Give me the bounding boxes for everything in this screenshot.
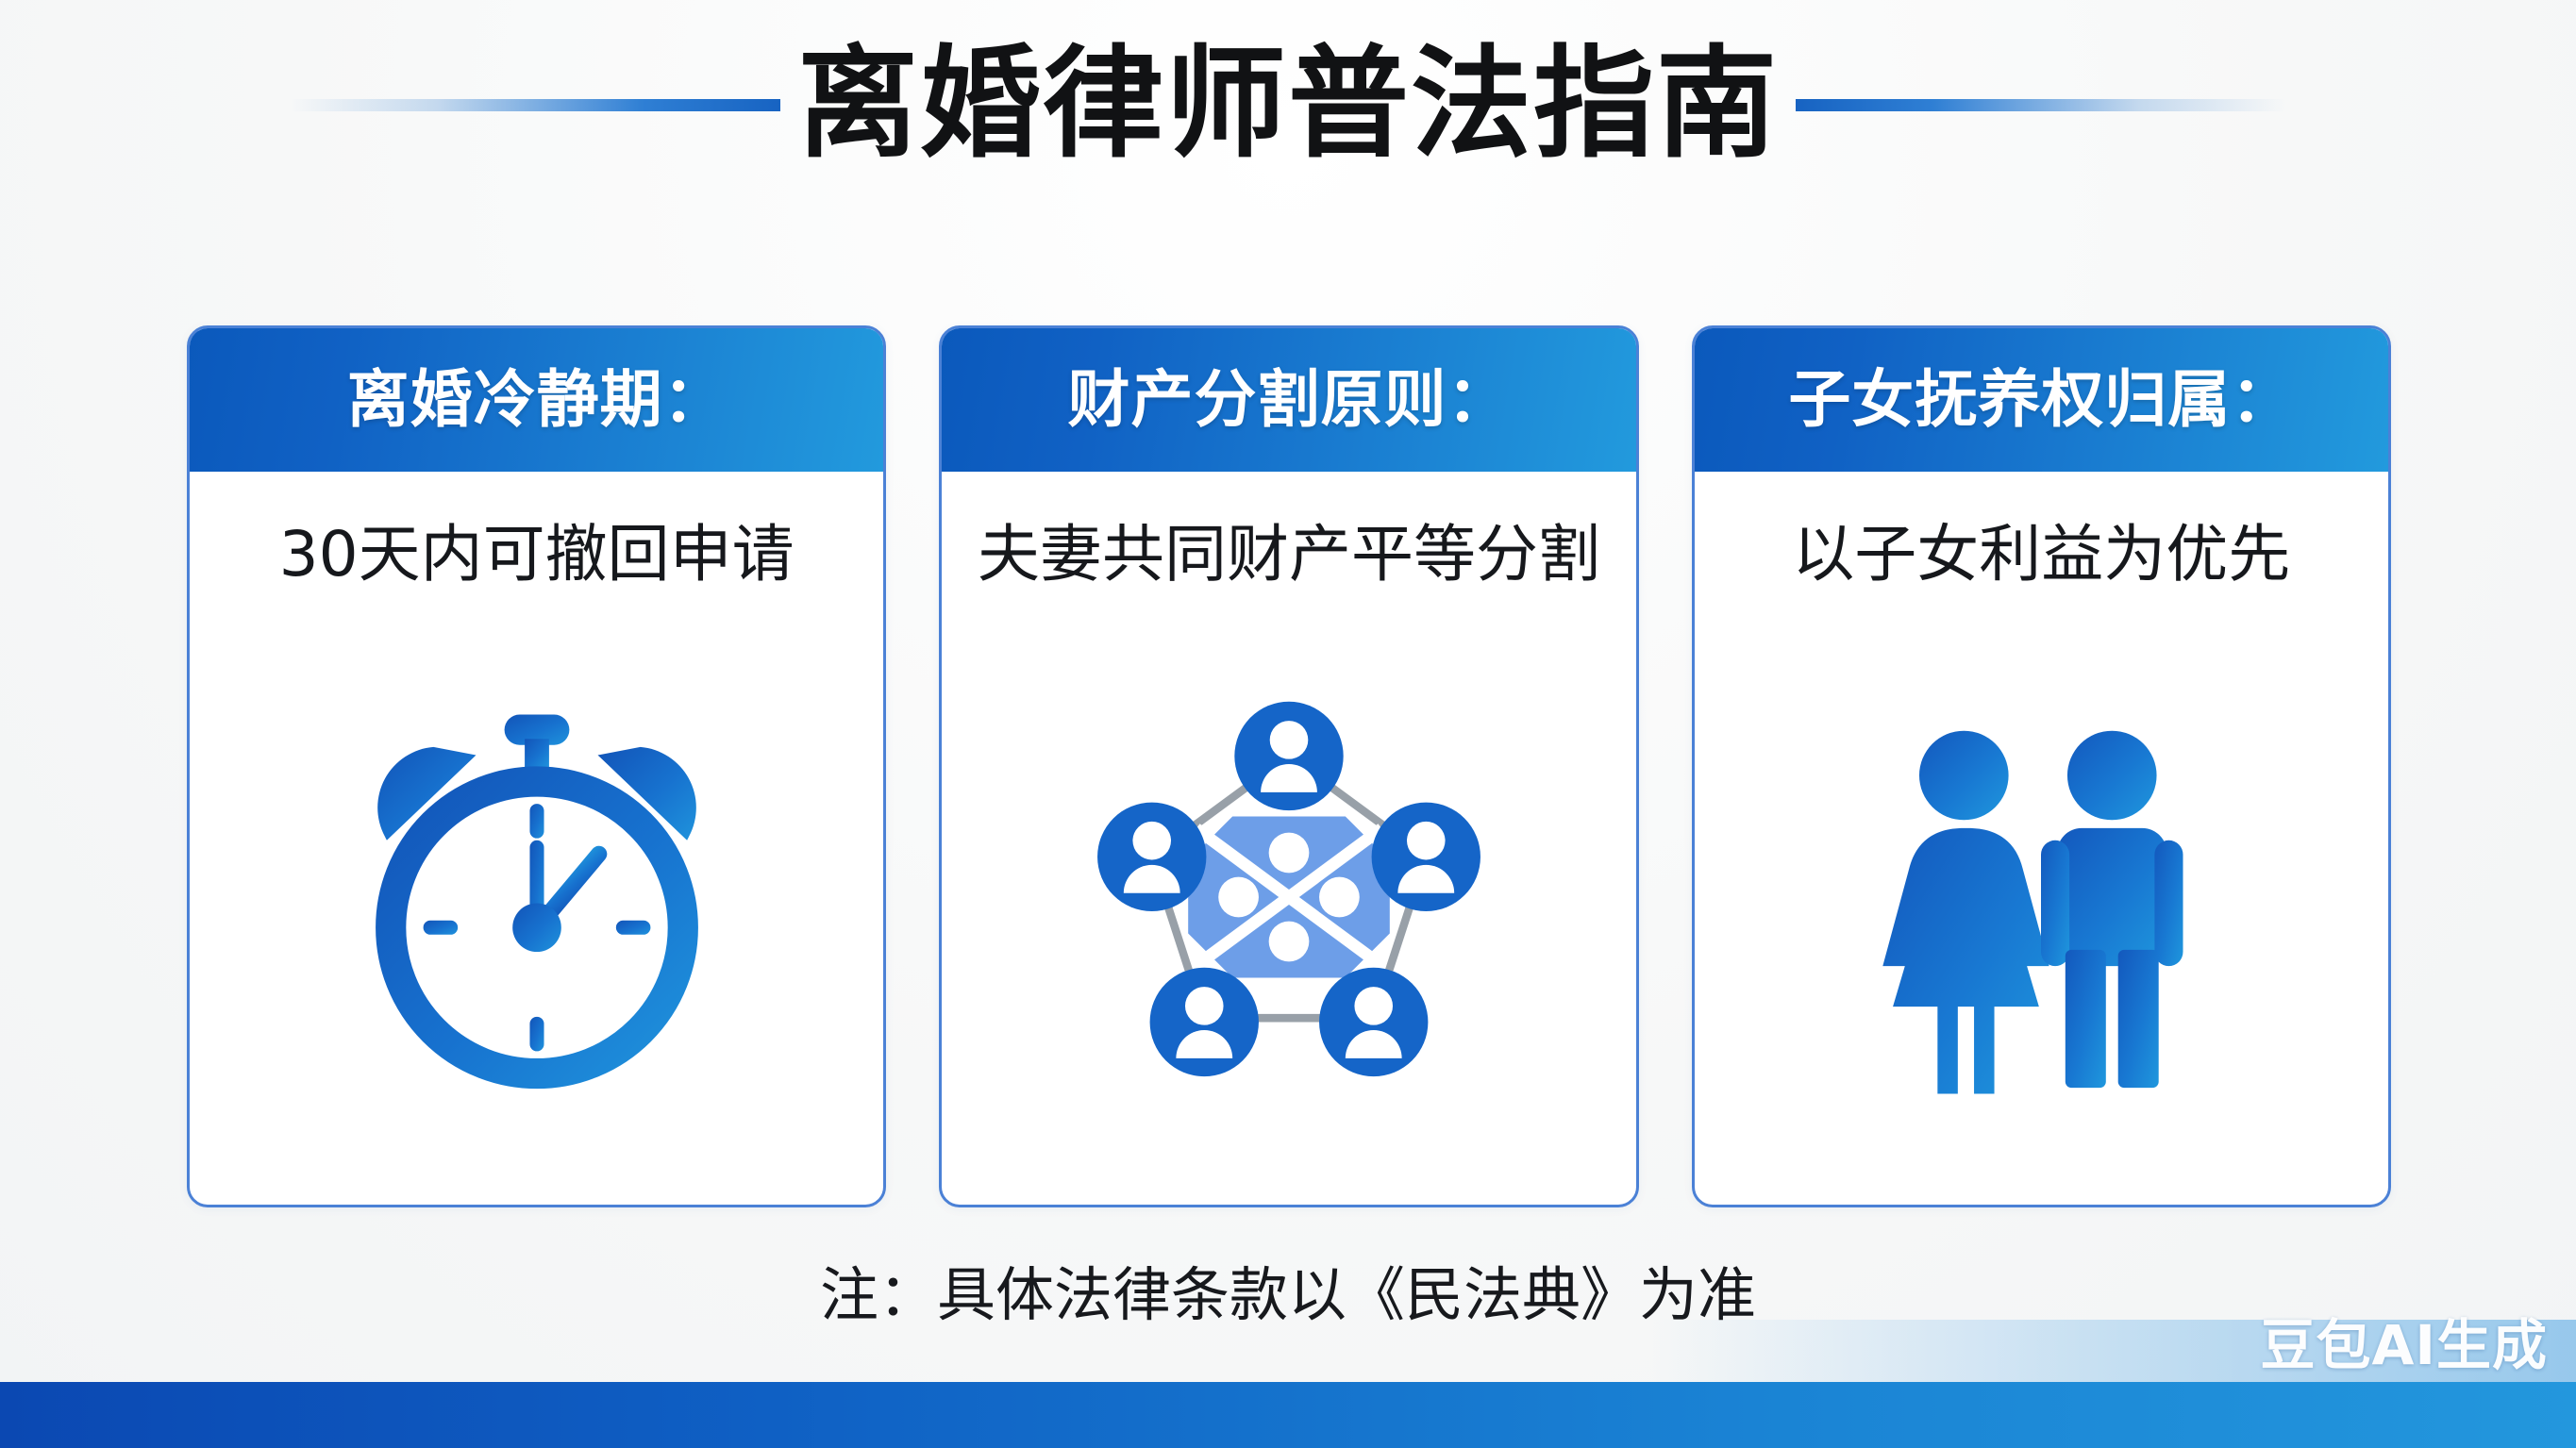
card-header: 财产分割原则： <box>942 328 1635 472</box>
card-icon-slot <box>190 590 883 1205</box>
title-rule-right-decoration <box>1796 99 2286 111</box>
page-title: 离婚律师普法指南 <box>797 44 1779 165</box>
card-body: 30天内可撤回申请 <box>190 472 883 1205</box>
card-cooling-off-period[interactable]: 离婚冷静期： 30天内可撤回申请 <box>187 325 886 1207</box>
card-body: 以子女利益为优先 <box>1695 472 2388 1205</box>
card-text: 以子女利益为优先 <box>1792 521 2290 590</box>
card-icon-slot <box>1695 590 2388 1205</box>
card-title: 子女抚养权归属： <box>1788 369 2294 431</box>
card-title: 离婚冷静期： <box>347 369 727 431</box>
card-header: 子女抚养权归属： <box>1695 328 2388 472</box>
card-text: 30天内可撤回申请 <box>279 521 795 590</box>
poster-canvas: 离婚律师普法指南 离婚冷静期： 30天内可撤回申请 <box>0 0 2576 1448</box>
card-body: 夫妻共同财产平等分割 <box>942 472 1635 1205</box>
title-rule-left-decoration <box>290 99 780 111</box>
card-header: 离婚冷静期： <box>190 328 883 472</box>
card-icon-slot <box>942 590 1635 1205</box>
cards-container: 离婚冷静期： 30天内可撤回申请 <box>187 325 2391 1207</box>
title-row: 离婚律师普法指南 <box>0 34 2576 175</box>
card-title: 财产分割原则： <box>1067 369 1510 431</box>
card-property-division[interactable]: 财产分割原则： 夫妻共同财产平等分割 <box>939 325 1638 1207</box>
bottom-band <box>0 1382 2576 1448</box>
couple-figures-icon <box>1838 694 2244 1100</box>
people-network-icon <box>1067 694 1511 1100</box>
card-text: 夫妻共同财产平等分割 <box>978 521 1600 590</box>
card-child-custody[interactable]: 子女抚养权归属： 以子女利益为优先 <box>1692 325 2391 1207</box>
watermark-label: 豆包AI生成 <box>2261 1301 2548 1380</box>
alarm-clock-icon <box>334 694 740 1100</box>
